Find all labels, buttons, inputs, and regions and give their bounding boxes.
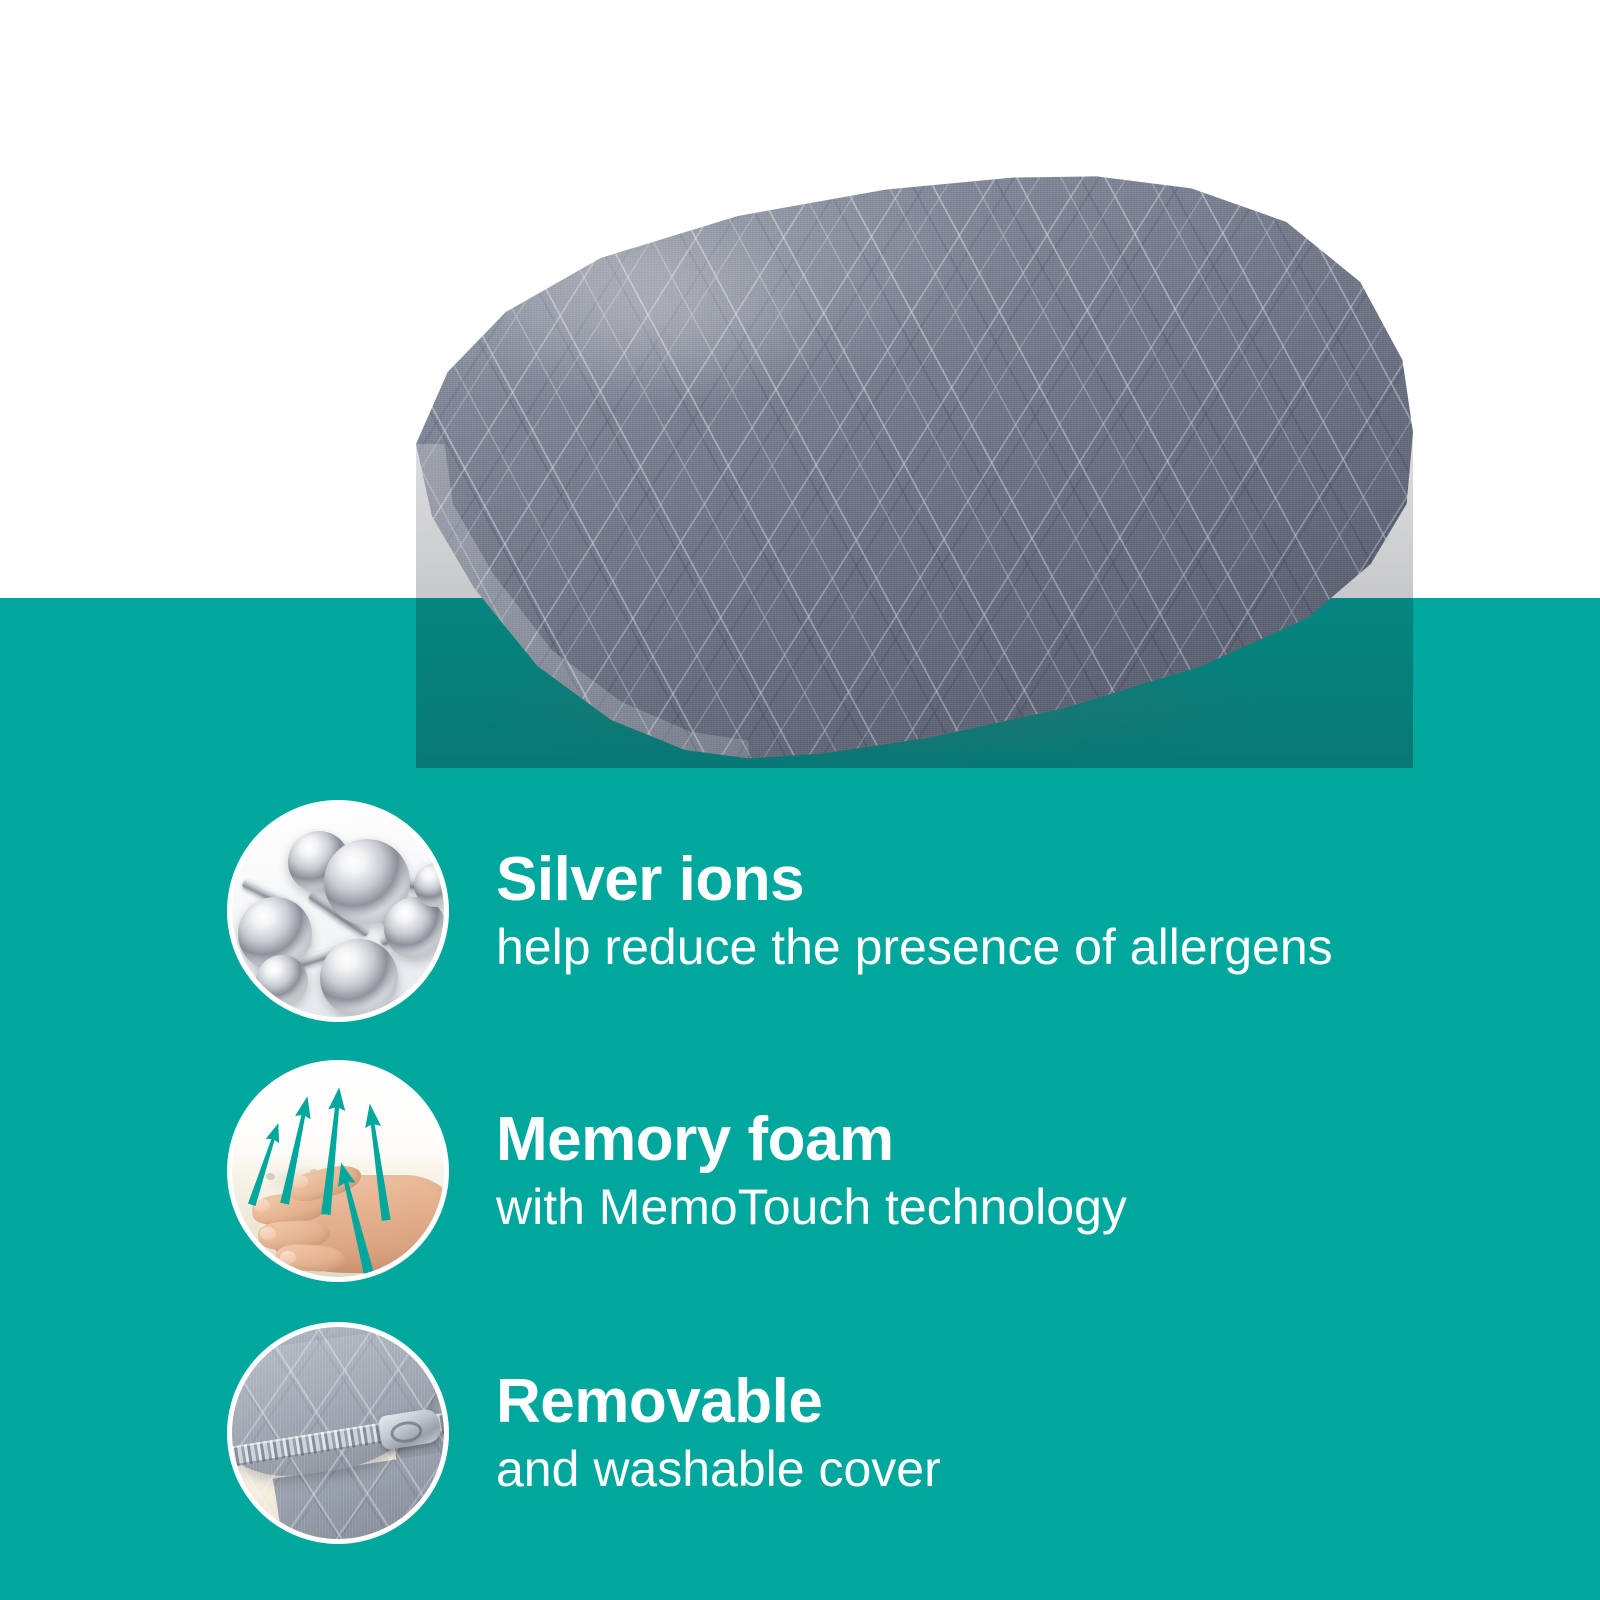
feature-item-memory-foam: Memory foam with MemoTouch technology (232, 1060, 1552, 1282)
feature-heading: Removable (496, 1370, 941, 1433)
feature-text: Silver ions help reduce the presence of … (496, 848, 1333, 973)
feature-heading: Silver ions (496, 848, 1333, 911)
feature-subheading: help reduce the presence of allergens (496, 920, 1333, 974)
feature-heading: Memory foam (496, 1108, 1127, 1171)
product-hero-image (330, 150, 1430, 810)
cushion-highlight (450, 210, 970, 470)
feature-text: Memory foam with MemoTouch technology (496, 1108, 1127, 1233)
feature-subheading: and washable cover (496, 1442, 941, 1496)
zipper-cover-icon (232, 1327, 444, 1539)
feature-subheading: with MemoTouch technology (496, 1180, 1127, 1234)
feature-item-silver-ions: Silver ions help reduce the presence of … (232, 800, 1552, 1022)
product-feature-graphic: Silver ions help reduce the presence of … (0, 0, 1600, 1600)
cushion-illustration (330, 150, 1430, 810)
feature-text: Removable and washable cover (496, 1370, 941, 1495)
hand-pressing-foam-icon (232, 1065, 444, 1277)
silver-molecule-icon (232, 805, 444, 1017)
feature-item-removable-cover: Removable and washable cover (232, 1322, 1552, 1544)
